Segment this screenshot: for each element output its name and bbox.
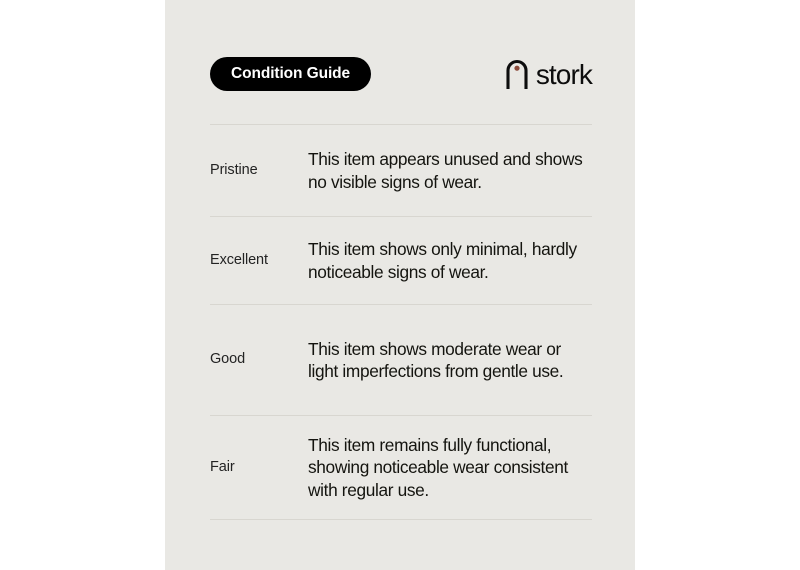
table-row: Fair This item remains fully functional,…: [210, 416, 592, 519]
table-divider-bottom: [210, 519, 592, 520]
table-row: Excellent This item shows only minimal, …: [210, 217, 592, 304]
condition-description: This item remains fully functional, show…: [308, 434, 592, 502]
condition-label: Excellent: [210, 252, 308, 269]
stork-logo[interactable]: stork: [505, 59, 592, 89]
condition-guide-badge[interactable]: Condition Guide: [210, 57, 371, 92]
condition-guide-card: Condition Guide stork Pristine This item…: [165, 0, 635, 570]
condition-description: This item appears unused and shows no vi…: [308, 148, 592, 193]
condition-guide-table: Pristine This item appears unused and sh…: [210, 124, 592, 520]
card-header: Condition Guide stork: [210, 55, 592, 93]
stork-wordmark: stork: [536, 61, 592, 89]
table-row: Pristine This item appears unused and sh…: [210, 125, 592, 216]
stork-arch-mark-icon: [505, 59, 529, 89]
condition-description: This item shows only minimal, hardly not…: [308, 238, 592, 283]
condition-label: Pristine: [210, 162, 308, 179]
screenshot-canvas: Condition Guide stork Pristine This item…: [0, 0, 800, 570]
table-row: Good This item shows moderate wear or li…: [210, 305, 592, 415]
condition-label: Good: [210, 351, 308, 368]
condition-label: Fair: [210, 459, 308, 476]
condition-description: This item shows moderate wear or light i…: [308, 338, 592, 383]
